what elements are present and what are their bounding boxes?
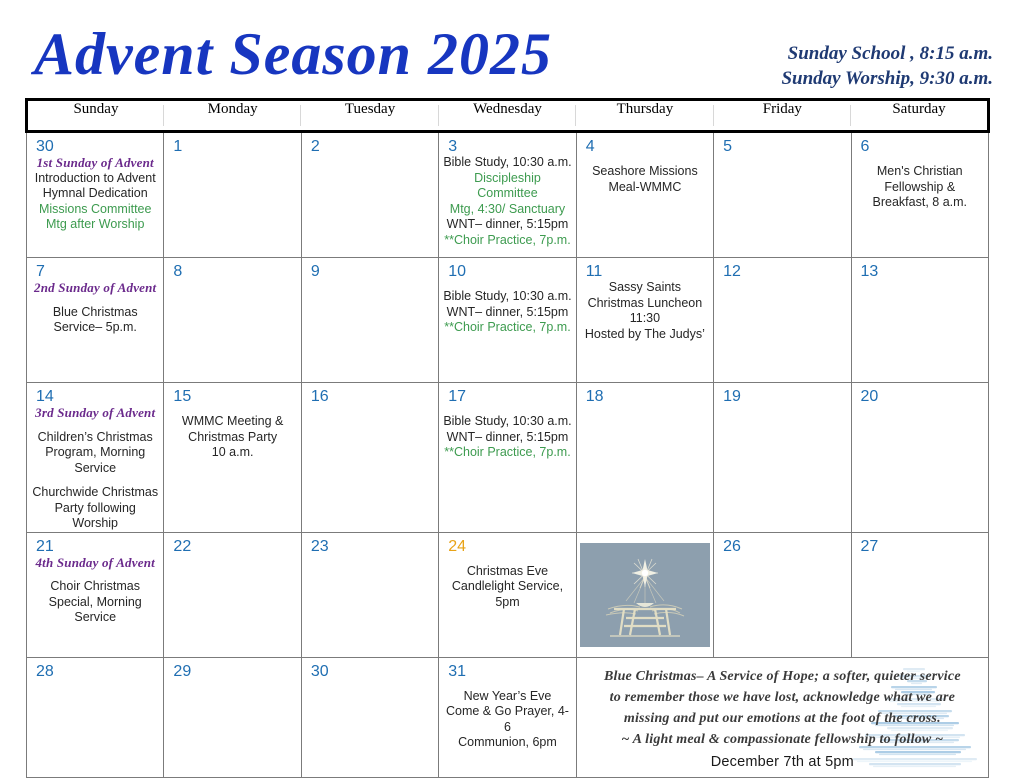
day-number: 19 <box>714 383 850 405</box>
event-text: Introduction to Advent <box>31 171 159 187</box>
service-time-sunday-school: Sunday School , 8:15 a.m. <box>781 41 993 66</box>
weekday-header-saturday: Saturday <box>851 100 988 132</box>
event-text: Blue Christmas <box>31 305 159 321</box>
event-text: WMMC Meeting & <box>168 414 296 430</box>
event-text: Special, Morning <box>31 595 159 611</box>
event-text: 2nd Sunday of Advent <box>31 280 159 296</box>
event-text: Choir Christmas <box>31 579 159 595</box>
calendar-day-cell[interactable]: 28 <box>27 657 164 777</box>
calendar-week-row: 143rd Sunday of AdventChildren’s Christm… <box>27 383 989 533</box>
day-events: Bible Study, 10:30 a.m.WNT– dinner, 5:15… <box>439 414 575 461</box>
calendar-week-row: 72nd Sunday of AdventBlue ChristmasServi… <box>27 258 989 383</box>
day-events: Bible Study, 10:30 a.m.WNT– dinner, 5:15… <box>439 289 575 336</box>
calendar-week-row: 214th Sunday of AdventChoir ChristmasSpe… <box>27 532 989 657</box>
day-number: 5 <box>714 133 850 155</box>
event-text: 1st Sunday of Advent <box>31 155 159 171</box>
calendar-day-cell[interactable]: 15WMMC Meeting &Christmas Party10 a.m. <box>164 383 301 533</box>
day-events: WMMC Meeting &Christmas Party10 a.m. <box>164 414 300 461</box>
day-events: 2nd Sunday of AdventBlue ChristmasServic… <box>27 280 163 336</box>
calendar-day-cell[interactable]: 301st Sunday of AdventIntroduction to Ad… <box>27 132 164 258</box>
calendar-body: 301st Sunday of AdventIntroduction to Ad… <box>27 132 989 778</box>
calendar-day-cell[interactable]: 29 <box>164 657 301 777</box>
event-text: Party following Worship <box>31 501 159 532</box>
calendar-day-cell[interactable]: 2 <box>301 132 438 258</box>
event-text: **Choir Practice, 7p.m. <box>443 320 571 336</box>
day-number: 27 <box>852 533 988 555</box>
day-number: 15 <box>164 383 300 405</box>
day-number: 26 <box>714 533 850 555</box>
event-text: Mtg after Worship <box>31 217 159 233</box>
calendar-day-cell[interactable]: 31New Year’s EveCome & Go Prayer, 4-6Com… <box>439 657 576 777</box>
weekday-header-wednesday: Wednesday <box>439 100 576 132</box>
footer-note-text: Blue Christmas– A Service of Hope; a sof… <box>577 658 988 773</box>
day-number: 30 <box>27 133 163 155</box>
event-text: Christmas Luncheon <box>581 296 709 312</box>
weekday-header-thursday: Thursday <box>576 100 713 132</box>
calendar-day-cell[interactable]: 9 <box>301 258 438 383</box>
calendar-grid: Sunday Monday Tuesday Wednesday Thursday… <box>25 98 990 778</box>
calendar-day-cell[interactable]: 11Sassy SaintsChristmas Luncheon11:30Hos… <box>576 258 713 383</box>
event-text: Hymnal Dedication <box>31 186 159 202</box>
event-text: Bible Study, 10:30 a.m. <box>443 289 571 305</box>
event-text: Communion, 6pm <box>443 735 571 751</box>
event-text: Churchwide Christmas <box>31 485 159 501</box>
calendar-day-cell[interactable] <box>576 532 713 657</box>
event-text: 10 a.m. <box>168 445 296 461</box>
day-number: 14 <box>27 383 163 405</box>
day-number: 30 <box>302 658 438 680</box>
event-text: Christmas Party <box>168 430 296 446</box>
day-number: 16 <box>302 383 438 405</box>
day-number: 3 <box>439 133 575 155</box>
event-text: WNT– dinner, 5:15pm <box>443 430 571 446</box>
day-number: 28 <box>27 658 163 680</box>
calendar-day-cell[interactable]: 26 <box>714 532 851 657</box>
day-number: 10 <box>439 258 575 280</box>
event-text: Bible Study, 10:30 a.m. <box>443 155 571 171</box>
blue-christmas-footer-note: Blue Christmas– A Service of Hope; a sof… <box>576 657 988 777</box>
event-text: WNT– dinner, 5:15pm <box>443 305 571 321</box>
event-text: Discipleship Committee <box>443 171 571 202</box>
weekday-header-tuesday: Tuesday <box>301 100 438 132</box>
calendar-week-row: 28293031New Year’s EveCome & Go Prayer, … <box>27 657 989 777</box>
event-text: Fellowship & <box>856 180 984 196</box>
event-text: Mtg, 4:30/ Sanctuary <box>443 202 571 218</box>
calendar-day-cell[interactable]: 13 <box>851 258 988 383</box>
event-text: Children’s Christmas <box>31 430 159 446</box>
day-number: 8 <box>164 258 300 280</box>
event-text: Come & Go Prayer, 4-6 <box>443 704 571 735</box>
day-events: Men's ChristianFellowship &Breakfast, 8 … <box>852 164 988 211</box>
day-number: 20 <box>852 383 988 405</box>
footer-note-date: December 7th at 5pm <box>587 752 978 773</box>
day-events: 4th Sunday of AdventChoir ChristmasSpeci… <box>27 555 163 626</box>
day-events: Bible Study, 10:30 a.m.Discipleship Comm… <box>439 155 575 248</box>
calendar-day-cell[interactable]: 3Bible Study, 10:30 a.m.Discipleship Com… <box>439 132 576 258</box>
day-events: New Year’s EveCome & Go Prayer, 4-6Commu… <box>439 689 575 751</box>
day-number: 2 <box>302 133 438 155</box>
event-text: **Choir Practice, 7p.m. <box>443 445 571 461</box>
event-text: Service <box>31 610 159 626</box>
calendar-day-cell[interactable]: 18 <box>576 383 713 533</box>
weekday-header-monday: Monday <box>164 100 301 132</box>
day-number: 29 <box>164 658 300 680</box>
event-text: WNT– dinner, 5:15pm <box>443 217 571 233</box>
day-number: 4 <box>577 133 713 155</box>
calendar-day-cell[interactable]: 6Men's ChristianFellowship &Breakfast, 8… <box>851 132 988 258</box>
event-text: Meal-WMMC <box>581 180 709 196</box>
calendar-day-cell[interactable]: 23 <box>301 532 438 657</box>
event-text: **Choir Practice, 7p.m. <box>443 233 571 249</box>
calendar-day-cell[interactable]: 10Bible Study, 10:30 a.m.WNT– dinner, 5:… <box>439 258 576 383</box>
calendar-header: Advent Season 2025 Sunday School , 8:15 … <box>0 0 1015 98</box>
day-events: 3rd Sunday of AdventChildren’s Christmas… <box>27 405 163 532</box>
calendar-weekday-header: Sunday Monday Tuesday Wednesday Thursday… <box>27 100 989 132</box>
calendar-day-cell[interactable]: 27 <box>851 532 988 657</box>
event-text: 11:30 <box>581 311 709 327</box>
calendar-day-cell[interactable]: 214th Sunday of AdventChoir ChristmasSpe… <box>27 532 164 657</box>
weekday-header-friday: Friday <box>714 100 851 132</box>
event-text: Bible Study, 10:30 a.m. <box>443 414 571 430</box>
calendar-day-cell[interactable]: 22 <box>164 532 301 657</box>
calendar-day-cell[interactable]: 5 <box>714 132 851 258</box>
day-number: 22 <box>164 533 300 555</box>
calendar-week-row: 301st Sunday of AdventIntroduction to Ad… <box>27 132 989 258</box>
page-title: Advent Season 2025 <box>34 22 552 86</box>
day-number: 1 <box>164 133 300 155</box>
calendar-day-cell[interactable]: 72nd Sunday of AdventBlue ChristmasServi… <box>27 258 164 383</box>
event-text: Men's Christian <box>856 164 984 180</box>
calendar-day-cell[interactable]: 24Christmas EveCandlelight Service,5pm <box>439 532 576 657</box>
event-text: Sassy Saints <box>581 280 709 296</box>
day-number: 17 <box>439 383 575 405</box>
weekday-header-sunday: Sunday <box>27 100 164 132</box>
footer-note-line: Blue Christmas– A Service of Hope; a sof… <box>587 666 978 687</box>
day-number: 11 <box>577 258 713 280</box>
event-text: Breakfast, 8 a.m. <box>856 195 984 211</box>
calendar-day-cell[interactable]: 12 <box>714 258 851 383</box>
event-text: Hosted by The Judys’ <box>581 327 709 343</box>
calendar-day-cell[interactable]: 17Bible Study, 10:30 a.m.WNT– dinner, 5:… <box>439 383 576 533</box>
calendar-day-cell[interactable]: 1 <box>164 132 301 258</box>
calendar-day-cell[interactable]: 20 <box>851 383 988 533</box>
day-number: 7 <box>27 258 163 280</box>
event-text: Missions Committee <box>31 202 159 218</box>
day-events: Sassy SaintsChristmas Luncheon11:30Hoste… <box>577 280 713 342</box>
footer-note-line: ~ A light meal & compassionate fellowshi… <box>587 729 978 750</box>
footer-note-line: missing and put our emotions at the foot… <box>587 708 978 729</box>
event-text: Christmas Eve <box>443 564 571 580</box>
day-number: 18 <box>577 383 713 405</box>
day-events: 1st Sunday of AdventIntroduction to Adve… <box>27 155 163 233</box>
event-text: Candlelight Service, <box>443 579 571 595</box>
calendar-day-cell[interactable]: 16 <box>301 383 438 533</box>
day-number: 13 <box>852 258 988 280</box>
calendar-day-cell[interactable]: 4Seashore MissionsMeal-WMMC <box>576 132 713 258</box>
service-times: Sunday School , 8:15 a.m. Sunday Worship… <box>781 41 993 91</box>
event-text: Seashore Missions <box>581 164 709 180</box>
day-number: 31 <box>439 658 575 680</box>
day-number: 6 <box>852 133 988 155</box>
footer-note-line: to remember those we have lost, acknowle… <box>587 687 978 708</box>
event-text: New Year’s Eve <box>443 689 571 705</box>
event-text: 3rd Sunday of Advent <box>31 405 159 421</box>
calendar-day-cell[interactable]: 19 <box>714 383 851 533</box>
calendar-day-cell[interactable]: 8 <box>164 258 301 383</box>
calendar-day-cell[interactable]: 30 <box>301 657 438 777</box>
event-text: Program, Morning Service <box>31 445 159 476</box>
day-number: 9 <box>302 258 438 280</box>
day-number: 24 <box>439 533 575 555</box>
day-number: 23 <box>302 533 438 555</box>
service-time-sunday-worship: Sunday Worship, 9:30 a.m. <box>781 66 993 91</box>
event-text: 4th Sunday of Advent <box>31 555 159 571</box>
day-events: Christmas EveCandlelight Service,5pm <box>439 564 575 611</box>
day-number: 21 <box>27 533 163 555</box>
day-number: 12 <box>714 258 850 280</box>
calendar-day-cell[interactable]: 143rd Sunday of AdventChildren’s Christm… <box>27 383 164 533</box>
nativity-manger-image <box>577 533 713 657</box>
day-events: Seashore MissionsMeal-WMMC <box>577 164 713 195</box>
event-text: Service– 5p.m. <box>31 320 159 336</box>
event-text: 5pm <box>443 595 571 611</box>
